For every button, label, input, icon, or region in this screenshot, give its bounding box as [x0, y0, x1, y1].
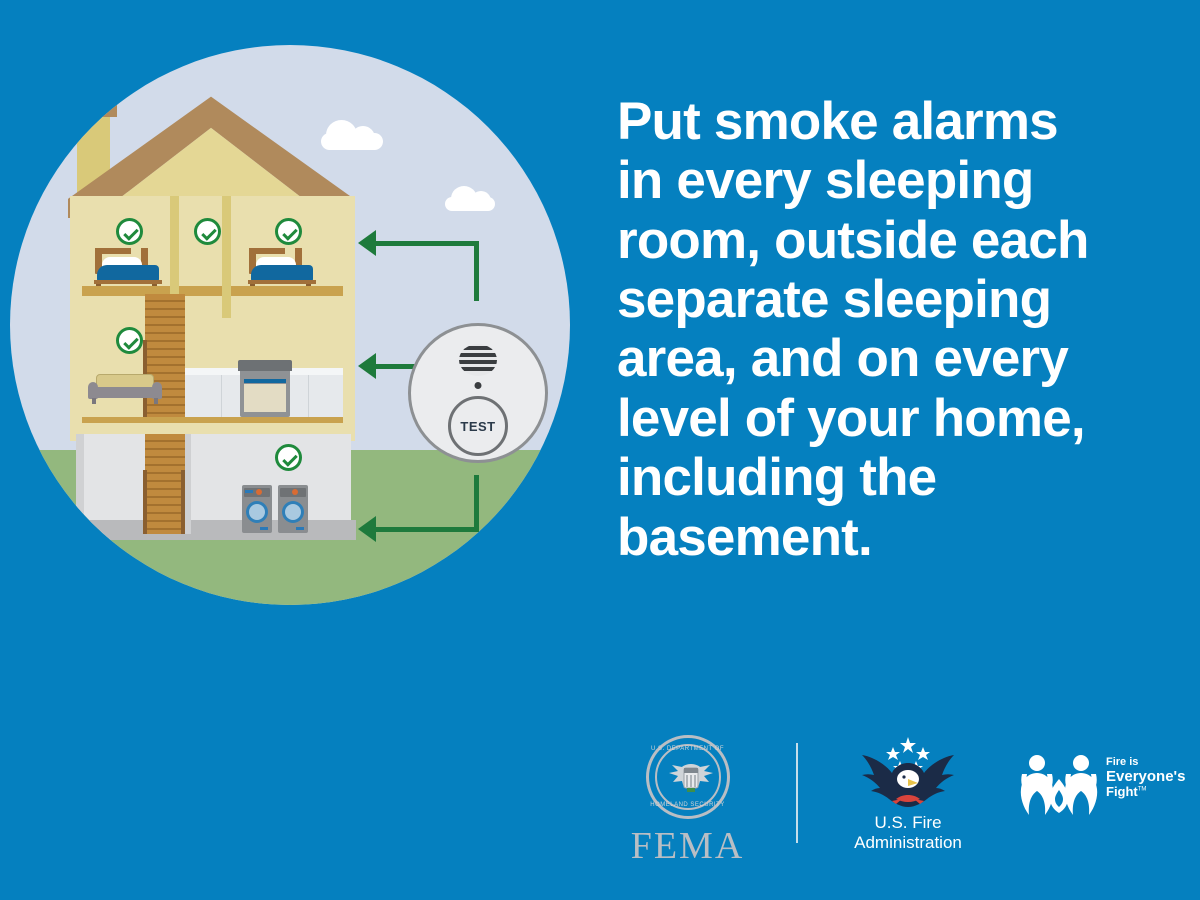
trademark-symbol: TM: [1138, 787, 1147, 793]
couch: [88, 374, 162, 404]
headline-line: basement.: [617, 508, 1157, 567]
led-indicator-icon: [475, 382, 482, 389]
checkmark-icon-living-room: [116, 327, 143, 354]
usfa-label-line1: U.S. Fire: [828, 813, 988, 833]
smoke-alarm[interactable]: TEST: [408, 323, 548, 463]
test-button-label: TEST: [460, 419, 495, 434]
stair-rail: [143, 470, 147, 534]
stove-cooktop: [238, 360, 292, 371]
washer: [242, 485, 272, 533]
arrow-to-main-floor-head: [358, 353, 376, 379]
arrow-to-upstairs-head: [358, 230, 376, 256]
basement-floor: [76, 520, 356, 540]
infographic-canvas: TEST Put smoke alarms in every sleeping …: [0, 0, 1200, 900]
headline-line: area, and on every: [617, 329, 1157, 388]
headline-line: room, outside each: [617, 211, 1157, 270]
sky-circle-background: TEST: [10, 45, 570, 605]
speaker-grille-icon: [459, 344, 497, 376]
headline-line: separate sleeping: [617, 270, 1157, 329]
fema-wordmark: FEMA: [620, 827, 755, 865]
cloud-icon: [445, 197, 495, 211]
headline-line: in every sleeping: [617, 151, 1157, 210]
checkmark-icon-upstairs-bedroom-left: [116, 218, 143, 245]
cabinet-divider: [308, 375, 309, 417]
two-figures-flame-icon: [1018, 749, 1100, 821]
page-title: Put smoke alarms in every sleeping room,…: [617, 92, 1157, 567]
fema-logo: U.S. DEPARTMENT OF HOMELAND SECURITY FEM…: [620, 735, 755, 865]
usfa-logo: U.S. Fire Administration: [828, 733, 988, 853]
checkmark-icon-upstairs-bedroom-right: [275, 218, 302, 245]
checkmark-icon-upstairs-hallway: [194, 218, 221, 245]
eagle-with-stars-icon: [828, 733, 988, 813]
fire-is-everyones-fight-logo: Fire is Everyone's FightTM: [1018, 749, 1188, 829]
dhs-seal-icon: U.S. DEPARTMENT OF HOMELAND SECURITY: [646, 735, 730, 819]
headline-line: level of your home,: [617, 389, 1157, 448]
arrow-to-upstairs-vertical: [474, 241, 479, 301]
oven-handle: [244, 379, 286, 383]
logo-divider: [796, 743, 798, 843]
house-illustration: TEST: [10, 45, 570, 615]
headline-line: including the: [617, 448, 1157, 507]
bed-left: [92, 248, 164, 288]
arrow-to-main-floor-line: [376, 364, 416, 369]
cabinet-divider: [221, 375, 222, 417]
floor-band: [179, 286, 222, 296]
floor-band: [231, 286, 343, 296]
usfa-label: U.S. Fire Administration: [828, 813, 988, 853]
house-cross-section: [46, 72, 376, 532]
fief-line2: Everyone's: [1106, 769, 1185, 785]
arrow-to-basement-head: [358, 516, 376, 542]
fief-line3: FightTM: [1106, 785, 1185, 799]
headline-line: Put smoke alarms: [617, 92, 1157, 151]
fief-wordmark: Fire is Everyone's FightTM: [1106, 757, 1185, 799]
stairs-basement: [145, 434, 185, 534]
dryer: [278, 485, 308, 533]
arrow-to-basement-vertical: [474, 475, 479, 532]
main-floor-slab: [82, 417, 343, 423]
room-divider: [222, 196, 231, 318]
arrow-to-upstairs-horizontal: [376, 241, 479, 246]
test-button[interactable]: TEST: [448, 396, 508, 456]
basement-divider: [185, 434, 191, 534]
usfa-label-line2: Administration: [828, 833, 988, 853]
arrow-to-basement-horizontal: [376, 527, 479, 532]
oven-window: [244, 384, 286, 412]
footer-logos: U.S. DEPARTMENT OF HOMELAND SECURITY FEM…: [600, 725, 1190, 875]
bed-right: [246, 248, 318, 288]
checkmark-icon-basement: [275, 444, 302, 471]
